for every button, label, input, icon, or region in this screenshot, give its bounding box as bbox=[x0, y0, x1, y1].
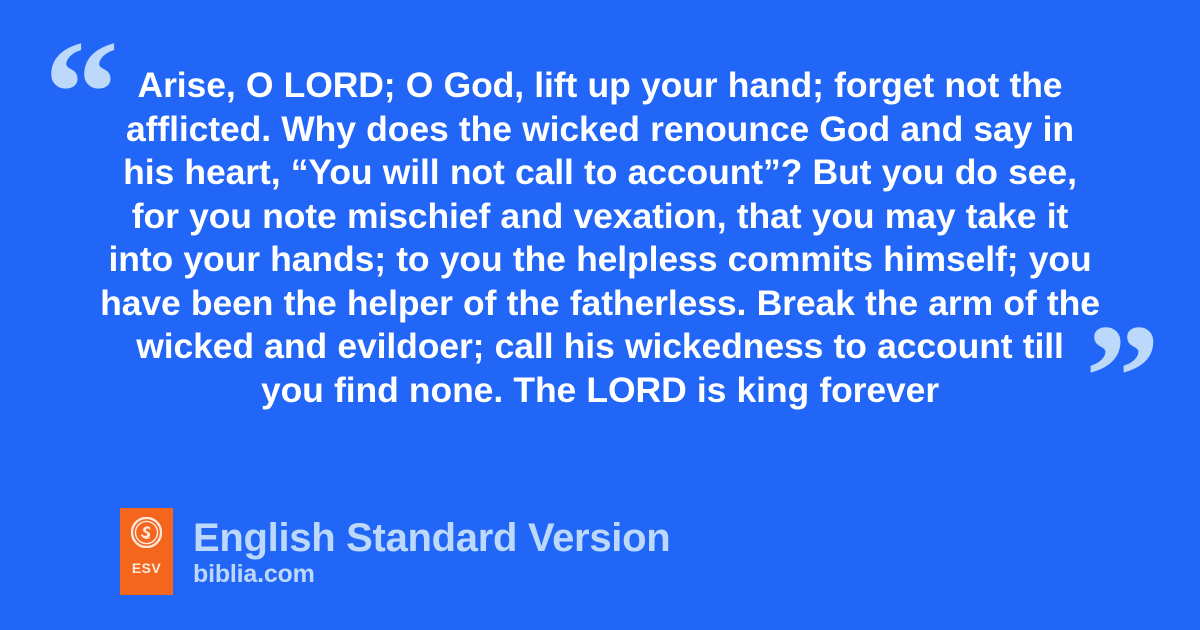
verse-image-card: “ Arise, O LORD; O God, lift up your han… bbox=[0, 0, 1200, 630]
esv-badge-label: ESV bbox=[132, 561, 161, 575]
attribution-footer: ESV English Standard Version biblia.com bbox=[120, 508, 670, 595]
bible-version-name: English Standard Version bbox=[193, 516, 670, 560]
footer-text-group: English Standard Version biblia.com bbox=[193, 516, 670, 588]
site-url-label: biblia.com bbox=[193, 560, 670, 588]
close-quote-icon: ” bbox=[1085, 302, 1158, 452]
quote-text: Arise, O LORD; O God, lift up your hand;… bbox=[100, 64, 1100, 412]
esv-badge: ESV bbox=[120, 508, 173, 595]
esv-seal-icon bbox=[131, 517, 162, 548]
quote-block: Arise, O LORD; O God, lift up your hand;… bbox=[100, 64, 1100, 412]
